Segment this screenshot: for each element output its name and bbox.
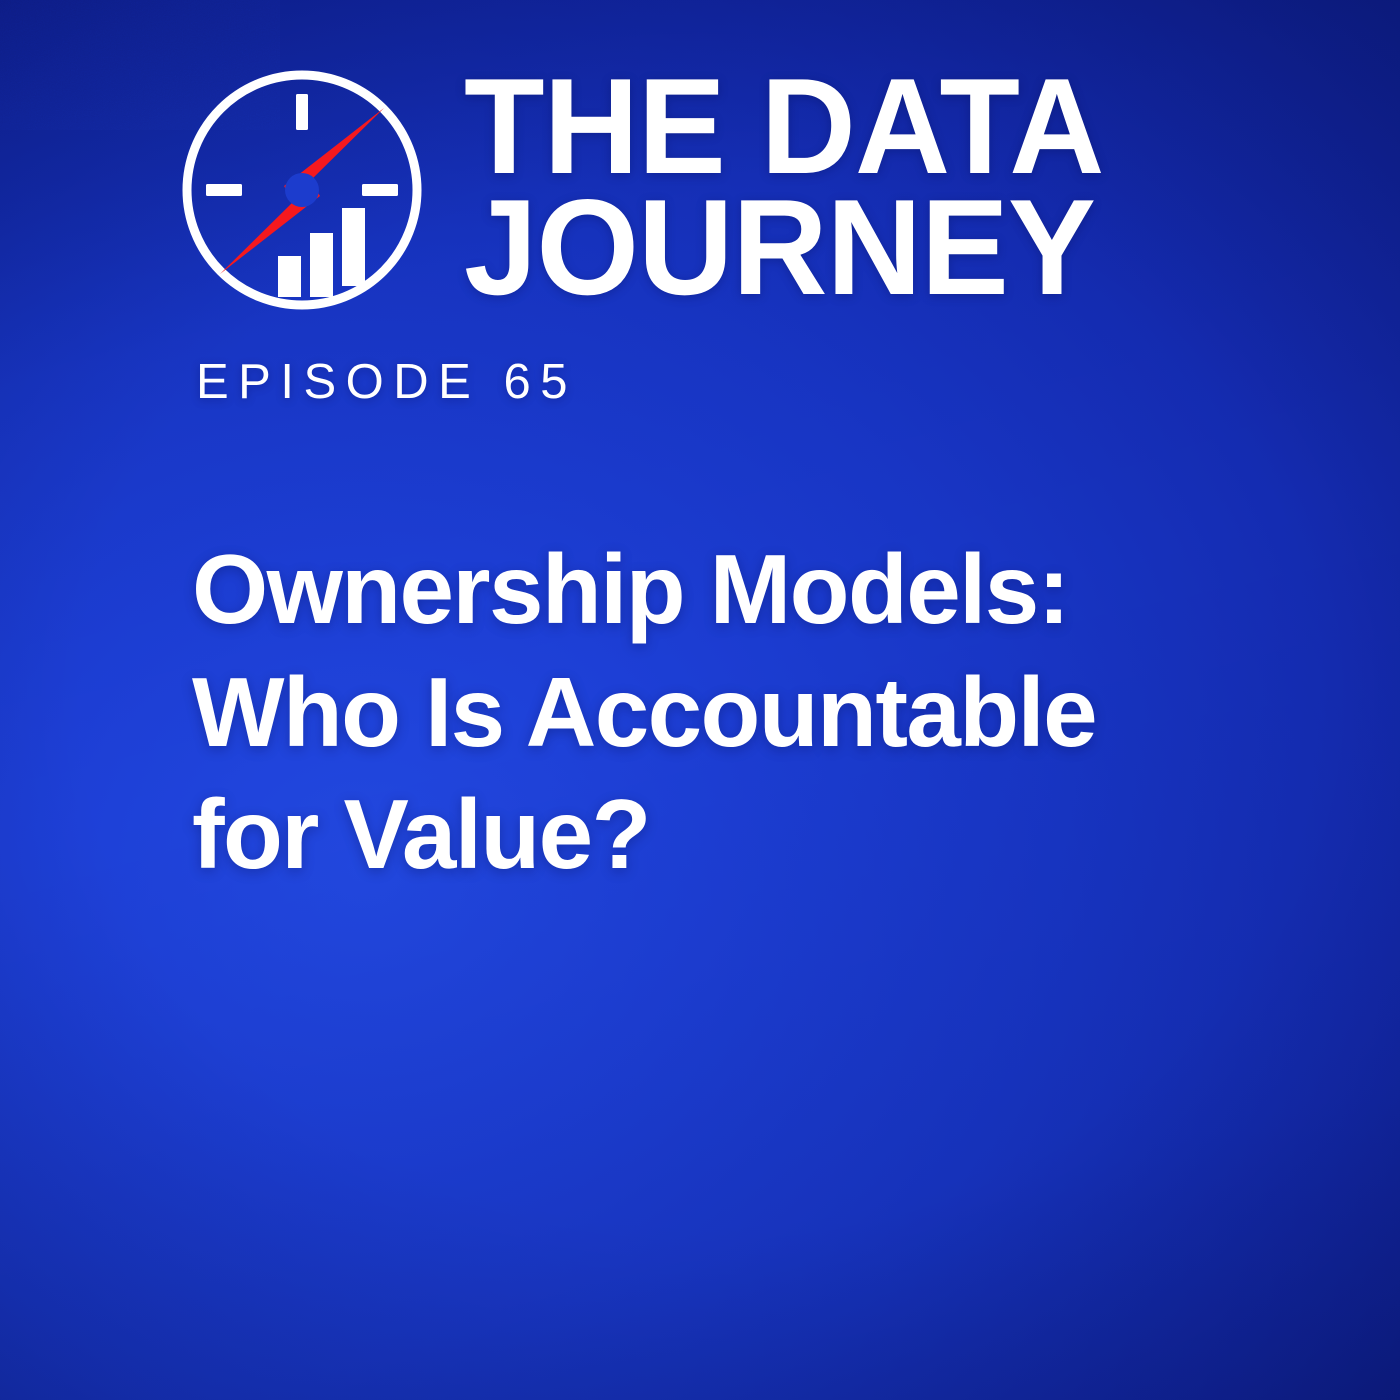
episode-number-label: EPISODE 65	[196, 358, 577, 407]
logo-bar-2	[310, 233, 333, 297]
podcast-cover-art: THE DATA JOURNEY EPISODE 65 Ownership Mo…	[0, 0, 1400, 1400]
compass-tick-north	[296, 94, 308, 130]
episode-title: Ownership Models: Who Is Accountable for…	[192, 528, 1202, 896]
brand-lockup: THE DATA JOURNEY	[180, 64, 1180, 316]
episode-title-line-3: for Value?	[192, 773, 1202, 896]
compass-tick-west	[206, 184, 242, 196]
logo-bar-1	[278, 256, 301, 297]
wordmark-line-journey: JOURNEY	[464, 185, 1143, 310]
brand-wordmark: THE DATA JOURNEY	[464, 64, 1164, 310]
compass-hub	[285, 173, 319, 207]
episode-title-line-2: Who Is Accountable	[192, 651, 1202, 774]
compass-tick-east	[362, 184, 398, 196]
compass-chart-icon	[180, 68, 424, 312]
logo-bar-3	[342, 208, 365, 286]
episode-title-line-1: Ownership Models:	[192, 528, 1202, 651]
